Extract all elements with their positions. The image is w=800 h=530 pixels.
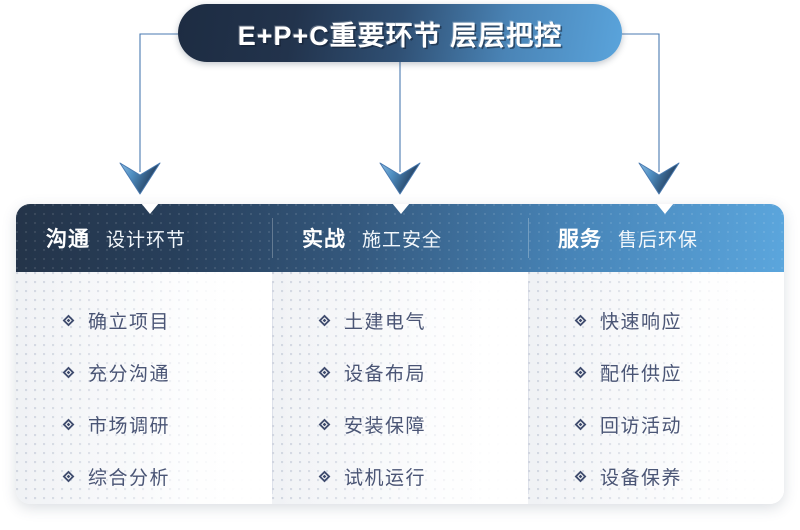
- list-item-label: 配件供应: [600, 359, 682, 386]
- list-item-label: 安装保障: [344, 411, 426, 438]
- column-header-execution[interactable]: 实战 施工安全: [272, 204, 528, 272]
- list-item[interactable]: 试机运行: [272, 450, 528, 502]
- list-item[interactable]: 市场调研: [16, 398, 272, 450]
- list-item[interactable]: 回访活动: [528, 398, 784, 450]
- column-title-communication: 沟通: [46, 223, 90, 253]
- list-item-label: 充分沟通: [88, 359, 170, 386]
- list-item-label: 快速响应: [600, 307, 682, 334]
- title-banner: E+P+C重要环节 层层把控: [178, 4, 622, 62]
- list-item-label: 设备保养: [600, 463, 682, 490]
- list-item[interactable]: 设备保养: [528, 450, 784, 502]
- column-body-communication: 确立项目 充分沟通: [16, 272, 272, 504]
- column-title-service: 服务: [558, 223, 602, 253]
- card-body: 确立项目 充分沟通: [16, 272, 784, 504]
- process-card: 沟通 设计环节 实战 施工安全 服务 售后环保: [16, 204, 784, 504]
- diamond-bullet-icon: [62, 314, 75, 327]
- list-item-label: 综合分析: [88, 463, 170, 490]
- diamond-bullet-icon: [574, 366, 587, 379]
- list-item[interactable]: 配件供应: [528, 346, 784, 398]
- diamond-bullet-icon: [574, 470, 587, 483]
- diamond-bullet-icon: [62, 366, 75, 379]
- list-item[interactable]: 确立项目: [16, 294, 272, 346]
- list-item-label: 设备布局: [344, 359, 426, 386]
- column-subtitle-service: 售后环保: [618, 225, 698, 252]
- list-item[interactable]: 综合分析: [16, 450, 272, 502]
- list-item[interactable]: 安装保障: [272, 398, 528, 450]
- diagram-canvas: E+P+C重要环节 层层把控 沟通 设计环节 实战 施工安全 服务 售后环保: [0, 0, 800, 530]
- diamond-bullet-icon: [318, 366, 331, 379]
- column-body-service: 快速响应 配件供应: [528, 272, 784, 504]
- list-item[interactable]: 设备布局: [272, 346, 528, 398]
- list-item-label: 确立项目: [88, 307, 170, 334]
- column-header-service[interactable]: 服务 售后环保: [528, 204, 784, 272]
- connector-line-right: [622, 34, 659, 172]
- column-body-execution: 土建电气 设备布局: [272, 272, 528, 504]
- list-item-label: 回访活动: [600, 411, 682, 438]
- list-item[interactable]: 土建电气: [272, 294, 528, 346]
- diamond-bullet-icon: [62, 418, 75, 431]
- list-item[interactable]: 快速响应: [528, 294, 784, 346]
- card-header: 沟通 设计环节 实战 施工安全 服务 售后环保: [16, 204, 784, 272]
- column-subtitle-execution: 施工安全: [362, 225, 442, 252]
- list-item[interactable]: 充分沟通: [16, 346, 272, 398]
- diamond-bullet-icon: [574, 314, 587, 327]
- diamond-bullet-icon: [318, 418, 331, 431]
- diamond-bullet-icon: [574, 418, 587, 431]
- column-header-communication[interactable]: 沟通 设计环节: [16, 204, 272, 272]
- column-subtitle-communication: 设计环节: [106, 225, 186, 252]
- diamond-bullet-icon: [62, 470, 75, 483]
- list-item-label: 市场调研: [88, 411, 170, 438]
- list-item-label: 土建电气: [344, 307, 426, 334]
- diamond-bullet-icon: [318, 470, 331, 483]
- column-title-execution: 实战: [302, 223, 346, 253]
- title-banner-text: E+P+C重要环节 层层把控: [238, 14, 563, 53]
- connector-line-left: [140, 34, 178, 172]
- list-item-label: 试机运行: [344, 463, 426, 490]
- diamond-bullet-icon: [318, 314, 331, 327]
